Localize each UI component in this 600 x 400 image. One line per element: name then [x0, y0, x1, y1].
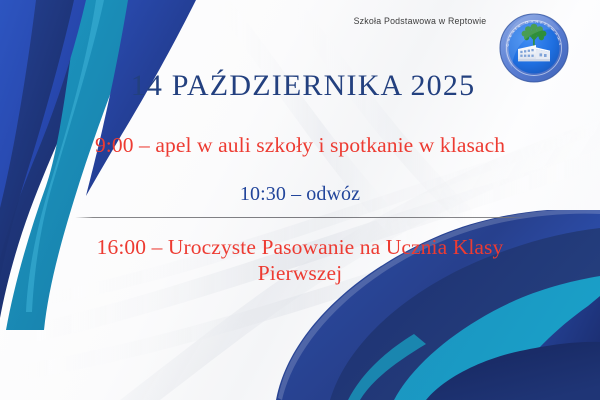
schedule-divider — [75, 217, 525, 218]
schedule-item-1600: 16:00 – Uroczyste Pasowanie na Ucznia Kl… — [0, 234, 600, 286]
event-poster: Szkoła Podstawowa w Reptowie — [0, 0, 600, 400]
poster-content: 14 PAŹDZIERNIKA 2025 9:00 – apel w auli … — [0, 70, 600, 287]
schedule-item-0900: 9:00 – apel w auli szkoły i spotkanie w … — [0, 132, 600, 158]
schedule-item-text: 9:00 – apel w auli szkoły i spotkanie w … — [95, 133, 505, 157]
page-title: 14 PAŹDZIERNIKA 2025 — [0, 70, 600, 102]
schedule-list: 9:00 – apel w auli szkoły i spotkanie w … — [0, 132, 600, 287]
schedule-item-text: 16:00 – Uroczyste Pasowanie na Ucznia Kl… — [97, 235, 504, 285]
school-name-label: Szkoła Podstawowa w Reptowie — [330, 16, 510, 26]
schedule-item-text: 10:30 – odwóz — [240, 183, 360, 205]
schedule-item-1030: 10:30 – odwóz — [0, 182, 600, 206]
